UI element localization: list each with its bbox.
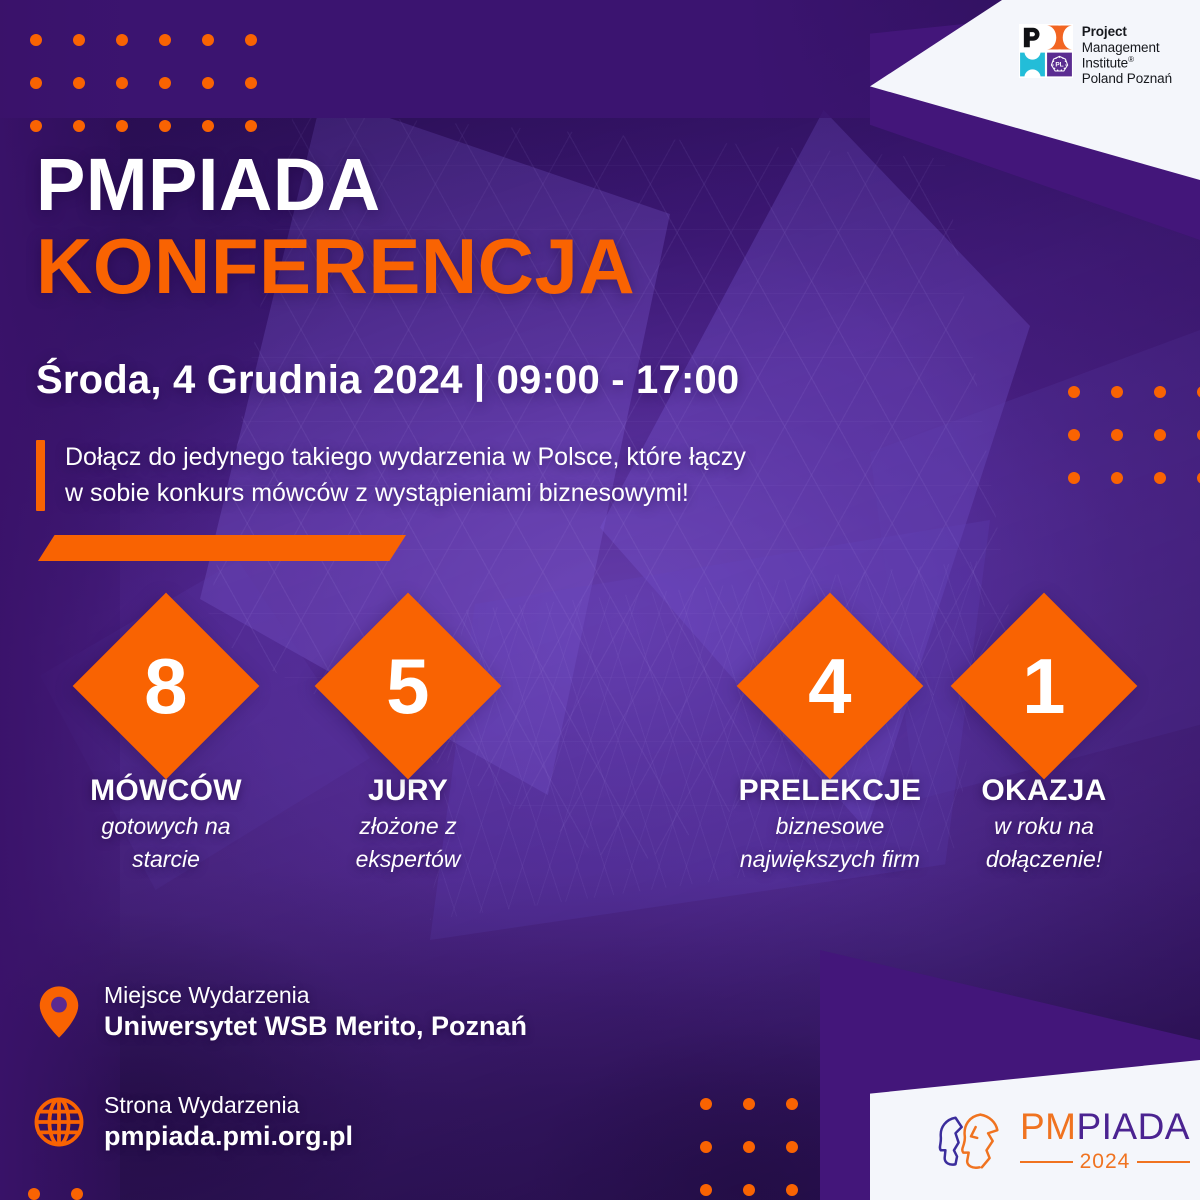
- dot: [700, 1141, 712, 1153]
- dot: [786, 1184, 798, 1196]
- dot: [1068, 386, 1080, 398]
- dot: [786, 1098, 798, 1110]
- location-pin-icon: [32, 980, 86, 1044]
- dot: [1111, 386, 1123, 398]
- dot: [1154, 429, 1166, 441]
- dot: [30, 34, 42, 46]
- dot: [1154, 472, 1166, 484]
- pmpiada-word-piada: PIADA: [1076, 1106, 1190, 1147]
- pmpiada-year: 2024: [1080, 1150, 1131, 1174]
- dot: [71, 1188, 83, 1200]
- dot: [116, 77, 128, 89]
- dot: [245, 77, 257, 89]
- pmi-mark-cyan-bowtie-icon: [1019, 51, 1046, 78]
- stat-item: 5 JURY złożone z ekspertów: [300, 620, 516, 873]
- pmpiada-word: PMPIADA: [1020, 1108, 1190, 1145]
- venue-block: Miejsce Wydarzenia Uniwersytet WSB Merit…: [32, 980, 527, 1044]
- website-label: Strona Wydarzenia: [104, 1091, 353, 1120]
- stat-subtitle-line-1: gotowych na: [58, 812, 274, 841]
- dot: [1068, 472, 1080, 484]
- dot: [73, 77, 85, 89]
- year-rule-left: [1020, 1161, 1073, 1163]
- page-subtitle: KONFERENCJA: [36, 226, 635, 308]
- stat-number: 5: [386, 647, 429, 725]
- dot: [1068, 429, 1080, 441]
- venue-value: Uniwersytet WSB Merito, Poznań: [104, 1010, 527, 1042]
- stat-subtitle-line-1: biznesowe: [716, 812, 944, 841]
- pmi-logo-mark: PL: [1019, 24, 1073, 78]
- dot: [159, 34, 171, 46]
- pmi-mark-p-icon: [1019, 24, 1046, 51]
- description-text: Dołącz do jedynego takiego wydarzenia w …: [65, 440, 746, 511]
- stat-subtitle-line-2: ekspertów: [300, 845, 516, 874]
- pmi-mark-pl-badge-icon: PL: [1046, 51, 1073, 78]
- poster-canvas: PL Project Management Institute® Poland …: [0, 0, 1200, 1200]
- description-block: Dołącz do jedynego takiego wydarzenia w …: [36, 440, 746, 511]
- website-url[interactable]: pmpiada.pmi.org.pl: [104, 1120, 353, 1152]
- dot: [1154, 386, 1166, 398]
- description-line-2: w sobie konkurs mówców z wystąpieniami b…: [65, 476, 746, 512]
- stat-diamond: 4: [737, 593, 924, 780]
- dot: [73, 120, 85, 132]
- registered-mark-icon: ®: [1128, 55, 1134, 64]
- stat-subtitle-line-1: w roku na: [938, 812, 1150, 841]
- pmpiada-year-row: 2024: [1020, 1150, 1190, 1174]
- dot: [159, 77, 171, 89]
- pmi-logo-wordmark: Project Management Institute® Poland Poz…: [1082, 24, 1172, 87]
- pmi-line-management: Management: [1082, 40, 1172, 56]
- pmpiada-2024-logo: PMPIADA 2024: [932, 1108, 1190, 1174]
- stat-number: 1: [1022, 647, 1065, 725]
- pmi-mark-orange-bowtie-icon: [1046, 24, 1073, 51]
- dot: [245, 120, 257, 132]
- dot: [1111, 472, 1123, 484]
- stat-item: 1 OKAZJA w roku na dołączenie!: [938, 620, 1150, 873]
- dot: [30, 120, 42, 132]
- dot: [1111, 429, 1123, 441]
- dot: [743, 1184, 755, 1196]
- stat-subtitle-line-2: starcie: [58, 845, 274, 874]
- description-line-1: Dołącz do jedynego takiego wydarzenia w …: [65, 440, 746, 476]
- website-block[interactable]: Strona Wydarzenia pmpiada.pmi.org.pl: [32, 1090, 353, 1154]
- stat-number: 4: [808, 647, 851, 725]
- accent-rule: [36, 440, 45, 511]
- pmi-line-institute: Institute®: [1082, 55, 1172, 71]
- dot: [743, 1141, 755, 1153]
- dot: [743, 1098, 755, 1110]
- dot: [159, 120, 171, 132]
- page-title: PMPIADA: [36, 148, 635, 222]
- dot: [700, 1098, 712, 1110]
- stat-item: 4 PRELEKCJE biznesowe największych firm: [716, 620, 944, 873]
- pmi-line-project: Project: [1082, 24, 1172, 40]
- event-datetime: Środa, 4 Grudnia 2024 | 09:00 - 17:00: [36, 358, 739, 403]
- venue-label: Miejsce Wydarzenia: [104, 981, 527, 1010]
- year-rule-right: [1137, 1161, 1190, 1163]
- dot: [786, 1141, 798, 1153]
- pmpiada-wordmark: PMPIADA 2024: [1020, 1108, 1190, 1174]
- headline-group: PMPIADA KONFERENCJA: [36, 148, 635, 308]
- stat-subtitle-line-2: dołączenie!: [938, 845, 1150, 874]
- stat-diamond: 5: [315, 593, 502, 780]
- stat-diamond: 1: [951, 593, 1138, 780]
- dot: [202, 77, 214, 89]
- stat-diamond: 8: [73, 593, 260, 780]
- stat-subtitle-line-1: złożone z: [300, 812, 516, 841]
- pmi-institute-text: Institute: [1082, 56, 1128, 71]
- dot: [202, 34, 214, 46]
- dot: [30, 77, 42, 89]
- two-heads-icon: [932, 1110, 1010, 1172]
- orange-parallelogram-divider: [38, 535, 406, 561]
- dot: [202, 120, 214, 132]
- dot: [700, 1184, 712, 1196]
- dot: [28, 1188, 40, 1200]
- stat-item: 8 MÓWCÓW gotowych na starcie: [58, 620, 274, 873]
- stat-subtitle-line-2: największych firm: [716, 845, 944, 874]
- stats-group: 8 MÓWCÓW gotowych na starcie 5 JURY złoż…: [0, 620, 1200, 950]
- dot: [116, 120, 128, 132]
- dot: [73, 34, 85, 46]
- globe-icon: [32, 1090, 86, 1154]
- stat-number: 8: [144, 647, 187, 725]
- pmpiada-word-pm: PM: [1020, 1106, 1077, 1147]
- dot: [245, 34, 257, 46]
- dot: [116, 34, 128, 46]
- pmi-line-poland: Poland Poznań: [1082, 71, 1172, 87]
- pmi-logo: PL Project Management Institute® Poland …: [1019, 24, 1172, 87]
- pmi-pl-text: PL: [1055, 61, 1063, 68]
